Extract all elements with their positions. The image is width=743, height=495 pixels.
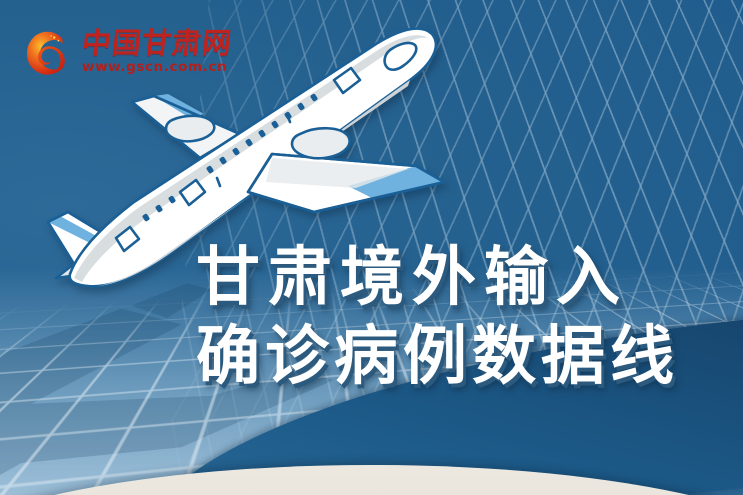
headline-block: 甘肃境外输入 确诊病例数据线 [196,246,736,391]
headline-line-1: 甘肃境外输入 [196,246,736,311]
logo-site-name: 中国甘肃网 [80,29,233,58]
gscn-swirl-logo-icon [22,26,74,78]
headline-line-2: 确诊病例数据线 [196,325,736,390]
logo-wordmark: 中国甘肃网 www.gscn.com.cn [82,29,232,75]
logo-url: www.gscn.com.cn [82,61,232,75]
infographic-banner: 中国甘肃网 www.gscn.com.cn [0,0,743,495]
site-logo[interactable]: 中国甘肃网 www.gscn.com.cn [22,24,232,80]
